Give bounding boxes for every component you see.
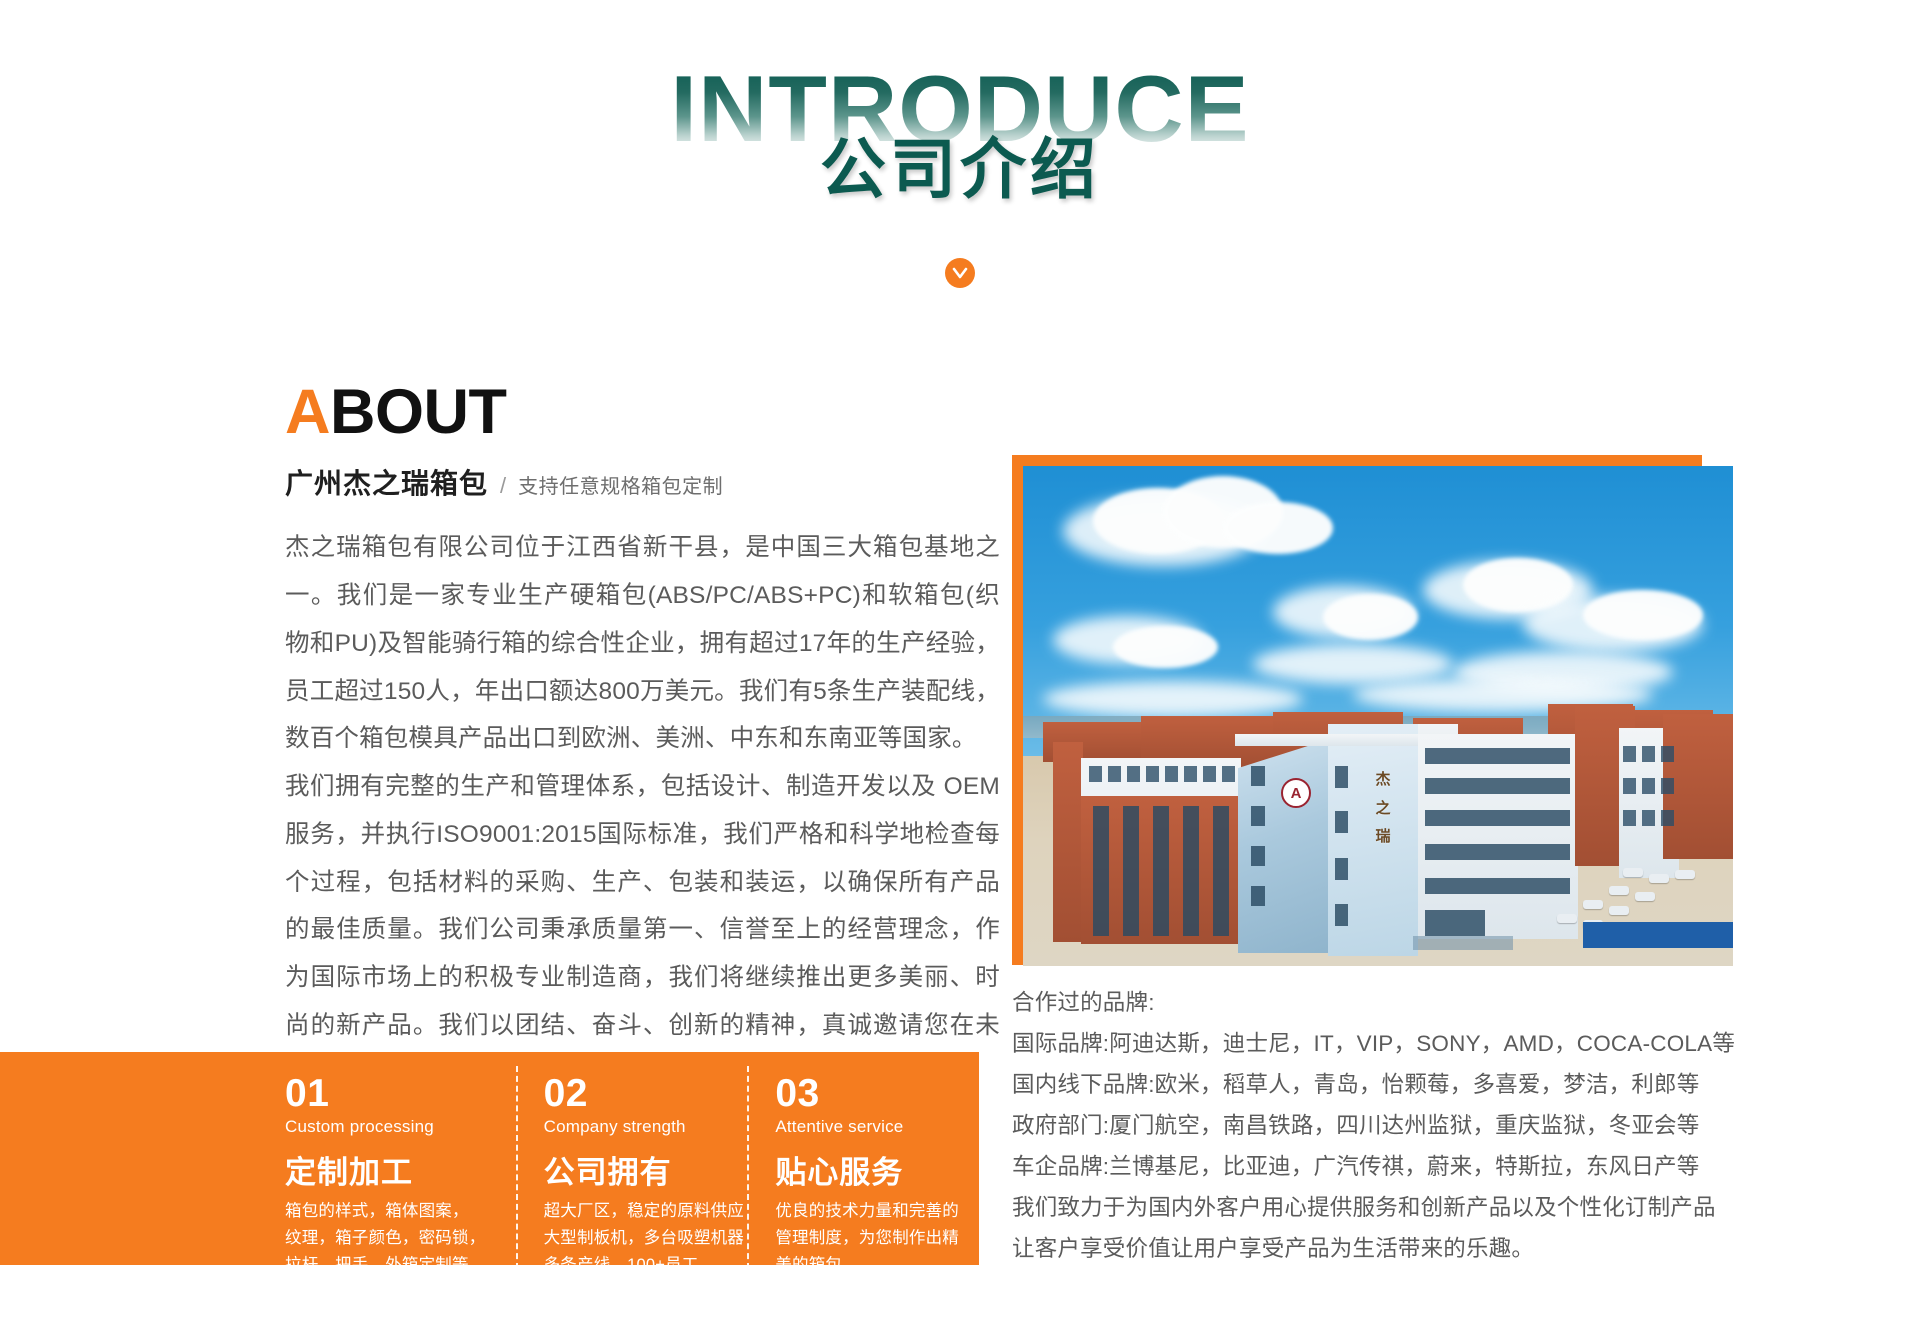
feature-desc-line: 拉杆，把手，外箱定制等: [285, 1252, 516, 1279]
parked-car: [1557, 914, 1577, 923]
window-row: [1089, 766, 1235, 782]
feature-desc-line: 多条产线，100+员工: [544, 1252, 748, 1279]
window: [1183, 806, 1199, 936]
company-tagline: 支持任意规格箱包定制: [518, 470, 723, 499]
parked-car: [1609, 886, 1629, 895]
about-section: ABOUT 广州杰之瑞箱包 / 支持任意规格箱包定制 杰之瑞箱包有限公司位于江西…: [285, 380, 1000, 1097]
feature-divider: [747, 1066, 749, 1269]
brands-line: 国内线下品牌:欧米，稻草人，青岛，怡颗莓，多喜爱，梦洁，利郎等: [1012, 1065, 1712, 1106]
window: [1251, 806, 1265, 826]
window-band: [1425, 810, 1570, 826]
cloud: [1323, 594, 1418, 640]
glass-canopy: [1413, 936, 1513, 950]
features-bar: 01 Custom processing 定制加工 箱包的样式，箱体图案， 纹理…: [0, 1052, 979, 1265]
entrance-door: [1425, 910, 1485, 936]
window: [1123, 806, 1139, 936]
about-paragraph-2: 我们拥有完整的生产和管理体系，包括设计、制造开发以及 OEM服务，并执行ISO9…: [285, 763, 1000, 1097]
feature-desc-line: 管理制度，为您制作出精: [775, 1225, 979, 1252]
right-office-building: [1418, 734, 1578, 939]
window: [1335, 811, 1348, 833]
window-band: [1425, 748, 1570, 764]
feature-label-english: Company strength: [544, 1117, 748, 1137]
parked-car: [1675, 870, 1695, 879]
feature-item-01[interactable]: 01 Custom processing 定制加工 箱包的样式，箱体图案， 纹理…: [285, 1052, 516, 1279]
cloud: [1583, 590, 1703, 640]
main-building-roof: [1235, 734, 1420, 746]
window-row: [1623, 810, 1674, 826]
window: [1335, 766, 1348, 788]
brands-line: 我们致力于为国内外客户用心提供服务和创新产品以及个性化订制产品: [1012, 1188, 1712, 1229]
feature-desc-line: 优良的技术力量和完善的: [775, 1198, 979, 1225]
feature-desc-line: 纹理，箱子颜色，密码锁，: [285, 1225, 516, 1252]
cloud: [1223, 502, 1333, 554]
feature-label-chinese: 定制加工: [285, 1157, 516, 1188]
scroll-down-button[interactable]: [945, 258, 975, 288]
about-paragraph-1: 杰之瑞箱包有限公司位于江西省新干县，是中国三大箱包基地之一。我们是一家专业生产硬…: [285, 524, 1000, 763]
company-name: 广州杰之瑞箱包: [285, 462, 488, 502]
feature-number: 03: [775, 1074, 979, 1113]
window-band: [1425, 778, 1570, 794]
feature-label-english: Custom processing: [285, 1117, 516, 1137]
window: [1213, 806, 1229, 936]
feature-desc-line: 大型制板机，多台吸塑机器: [544, 1225, 748, 1252]
parked-car: [1583, 900, 1603, 909]
window: [1251, 886, 1265, 906]
parked-car: [1649, 874, 1669, 883]
feature-description: 优良的技术力量和完善的 管理制度，为您制作出精 美的箱包: [775, 1198, 979, 1278]
feature-desc-line: 美的箱包: [775, 1252, 979, 1279]
building-sign: 杰之瑞: [1373, 766, 1393, 852]
chevron-down-icon: [952, 267, 968, 279]
window-band: [1425, 878, 1570, 894]
brands-line: 让客户享受价值让用户享受产品为生活带来的乐趣。: [1012, 1229, 1712, 1270]
window: [1335, 858, 1348, 880]
cloud: [1113, 626, 1218, 668]
feature-desc-line: 超大厂区，稳定的原料供应: [544, 1198, 748, 1225]
feature-item-03[interactable]: 03 Attentive service 贴心服务 优良的技术力量和完善的 管理…: [747, 1052, 979, 1279]
header-title-chinese: 公司介绍: [0, 136, 1920, 202]
subtitle-separator: /: [500, 473, 506, 499]
window: [1251, 846, 1265, 866]
parked-car: [1609, 906, 1629, 915]
construction-fence: [1583, 922, 1733, 948]
brands-line: 国际品牌:阿迪达斯，迪士尼，IT，VIP，SONY，AMD，COCA-COLA等: [1012, 1024, 1712, 1065]
company-logo-badge: A: [1281, 778, 1311, 808]
feature-divider: [516, 1066, 518, 1269]
page-header: INTRODUCE 公司介绍: [0, 0, 1920, 300]
about-heading-initial: A: [285, 377, 330, 447]
window-row: [1623, 778, 1674, 794]
cloud: [1043, 681, 1303, 717]
window-row: [1623, 746, 1674, 762]
parked-car: [1635, 892, 1655, 901]
feature-description: 箱包的样式，箱体图案， 纹理，箱子颜色，密码锁， 拉杆，把手，外箱定制等: [285, 1198, 516, 1278]
about-heading: ABOUT: [285, 380, 1000, 444]
about-heading-rest: BOUT: [330, 377, 506, 447]
factory-photo-container: A 杰之瑞: [1012, 455, 1702, 965]
about-subtitle: 广州杰之瑞箱包 / 支持任意规格箱包定制: [285, 462, 1000, 502]
brands-line: 政府部门:厦门航空，南昌铁路，四川达州监狱，重庆监狱，冬亚会等: [1012, 1106, 1712, 1147]
window: [1335, 904, 1348, 926]
feature-label-chinese: 贴心服务: [775, 1157, 979, 1188]
window: [1153, 806, 1169, 936]
feature-label-chinese: 公司拥有: [544, 1157, 748, 1188]
brands-line: 车企品牌:兰博基尼，比亚迪，广汽传祺，蔚来，特斯拉，东风日产等: [1012, 1147, 1712, 1188]
cloud: [1253, 644, 1453, 684]
brands-title: 合作过的品牌:: [1012, 983, 1712, 1024]
left-building: [1053, 742, 1083, 942]
feature-number: 02: [544, 1074, 748, 1113]
window: [1093, 806, 1109, 936]
partner-brands-block: 合作过的品牌: 国际品牌:阿迪达斯，迪士尼，IT，VIP，SONY，AMD，CO…: [1012, 983, 1712, 1270]
feature-desc-line: 箱包的样式，箱体图案，: [285, 1198, 516, 1225]
feature-label-english: Attentive service: [775, 1117, 979, 1137]
feature-description: 超大厂区，稳定的原料供应 大型制板机，多台吸塑机器 多条产线，100+员工: [544, 1198, 748, 1278]
about-page: INTRODUCE 公司介绍 ABOUT 广州杰之瑞箱包 / 支持任意规格箱包定…: [0, 0, 1920, 1325]
window-band: [1425, 844, 1570, 860]
window: [1251, 766, 1265, 786]
feature-number: 01: [285, 1074, 516, 1113]
factory-photo: A 杰之瑞: [1023, 466, 1733, 966]
feature-item-02[interactable]: 02 Company strength 公司拥有 超大厂区，稳定的原料供应 大型…: [516, 1052, 748, 1279]
parked-car: [1623, 868, 1643, 877]
